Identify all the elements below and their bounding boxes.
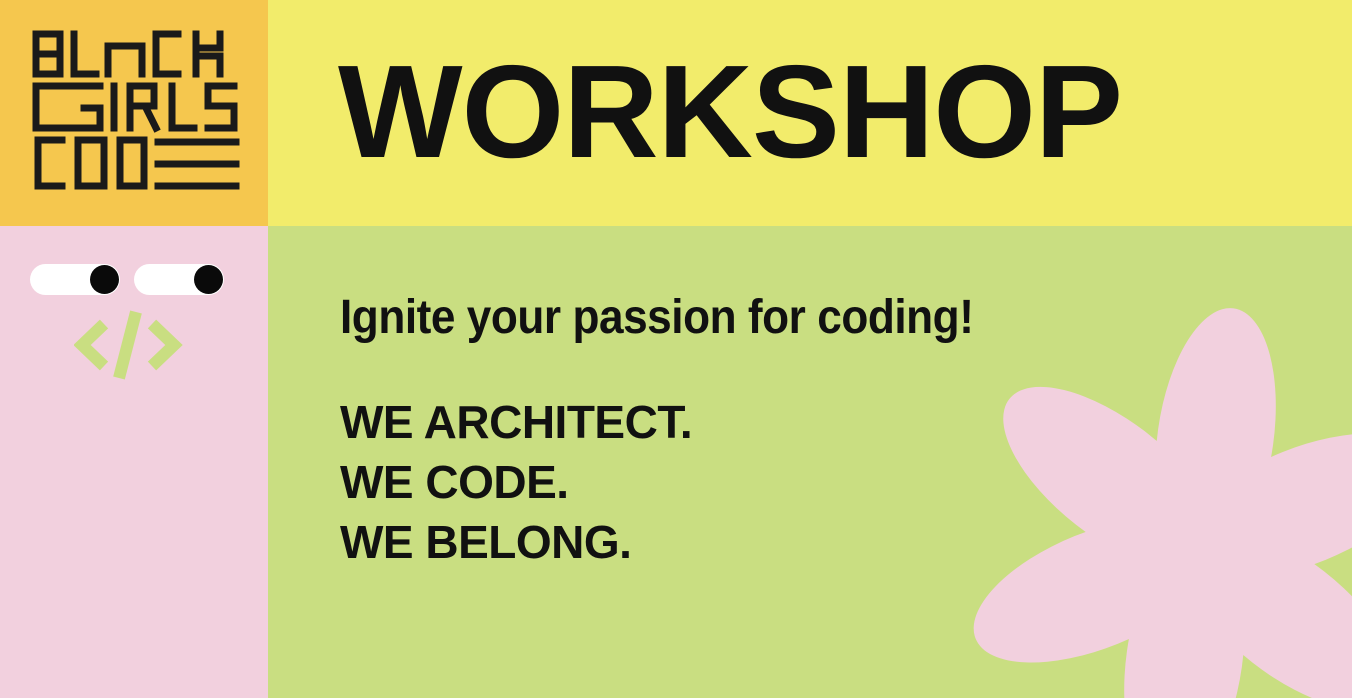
manifesto-line: WE BELONG. bbox=[340, 512, 692, 572]
code-brackets-icon bbox=[74, 308, 184, 382]
tagline: Ignite your passion for coding! bbox=[340, 292, 973, 344]
manifesto-line: WE CODE. bbox=[340, 452, 692, 512]
toggle-knob bbox=[194, 265, 223, 294]
widget-panel bbox=[0, 226, 268, 698]
toggle-switch-one[interactable] bbox=[30, 264, 120, 295]
manifesto-line: WE ARCHITECT. bbox=[340, 392, 692, 452]
page-title: WORKSHOP bbox=[338, 46, 1122, 178]
manifesto-list: WE ARCHITECT. WE CODE. WE BELONG. bbox=[340, 392, 692, 572]
logo-panel bbox=[0, 0, 268, 226]
toggle-knob bbox=[90, 265, 119, 294]
black-girls-code-logo bbox=[30, 26, 242, 198]
workshop-flyer: WORKSHOP bbox=[0, 0, 1352, 698]
toggle-switch-two[interactable] bbox=[134, 264, 224, 295]
toggle-row bbox=[30, 264, 224, 295]
